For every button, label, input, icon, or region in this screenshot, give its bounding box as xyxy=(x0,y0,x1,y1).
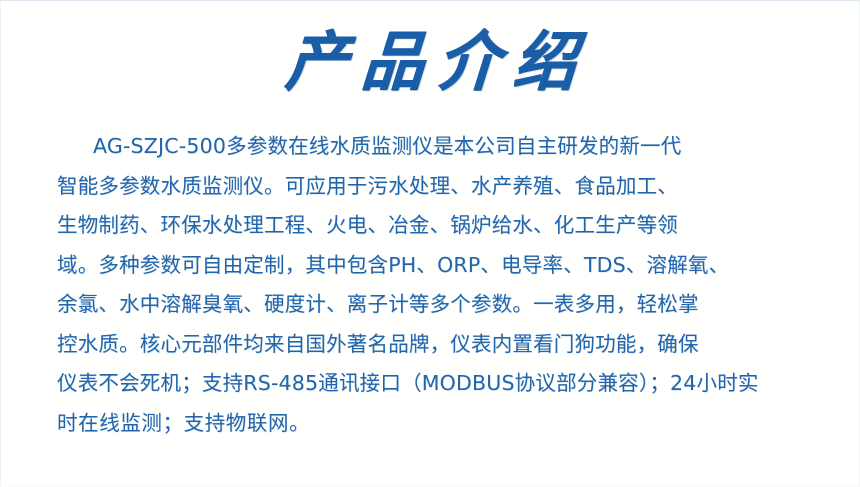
product-description-paragraph: AG-SZJC-500多参数在线水质监测仪是本公司自主研发的新一代 智能多参数水… xyxy=(57,127,817,443)
paragraph-line: 余氯、水中溶解臭氧、硬度计、离子计等多个参数。一表多用，轻松掌 xyxy=(57,285,817,325)
product-introduction-page: 产品介绍 AG-SZJC-500多参数在线水质监测仪是本公司自主研发的新一代 智… xyxy=(0,0,860,487)
paragraph-line: 域。多种参数可自由定制，其中包含PH、ORP、电导率、TDS、溶解氧、 xyxy=(57,246,817,286)
paragraph-line: 控水质。核心元部件均来自国外著名品牌，仪表内置看门狗功能，确保 xyxy=(57,325,817,365)
paragraph-line: 仪表不会死机；支持RS-485通讯接口（MODBUS协议部分兼容）；24小时实 xyxy=(57,364,817,404)
page-title: 产品介绍 xyxy=(269,21,593,102)
paragraph-line: 时在线监测；支持物联网。 xyxy=(57,404,817,444)
paragraph-line: AG-SZJC-500多参数在线水质监测仪是本公司自主研发的新一代 xyxy=(57,127,817,167)
page-title-block: 产品介绍 xyxy=(1,23,860,101)
paragraph-line: 智能多参数水质监测仪。可应用于污水处理、水产养殖、食品加工、 xyxy=(57,167,817,207)
paragraph-line: 生物制药、环保水处理工程、火电、冶金、锅炉给水、化工生产等领 xyxy=(57,206,817,246)
